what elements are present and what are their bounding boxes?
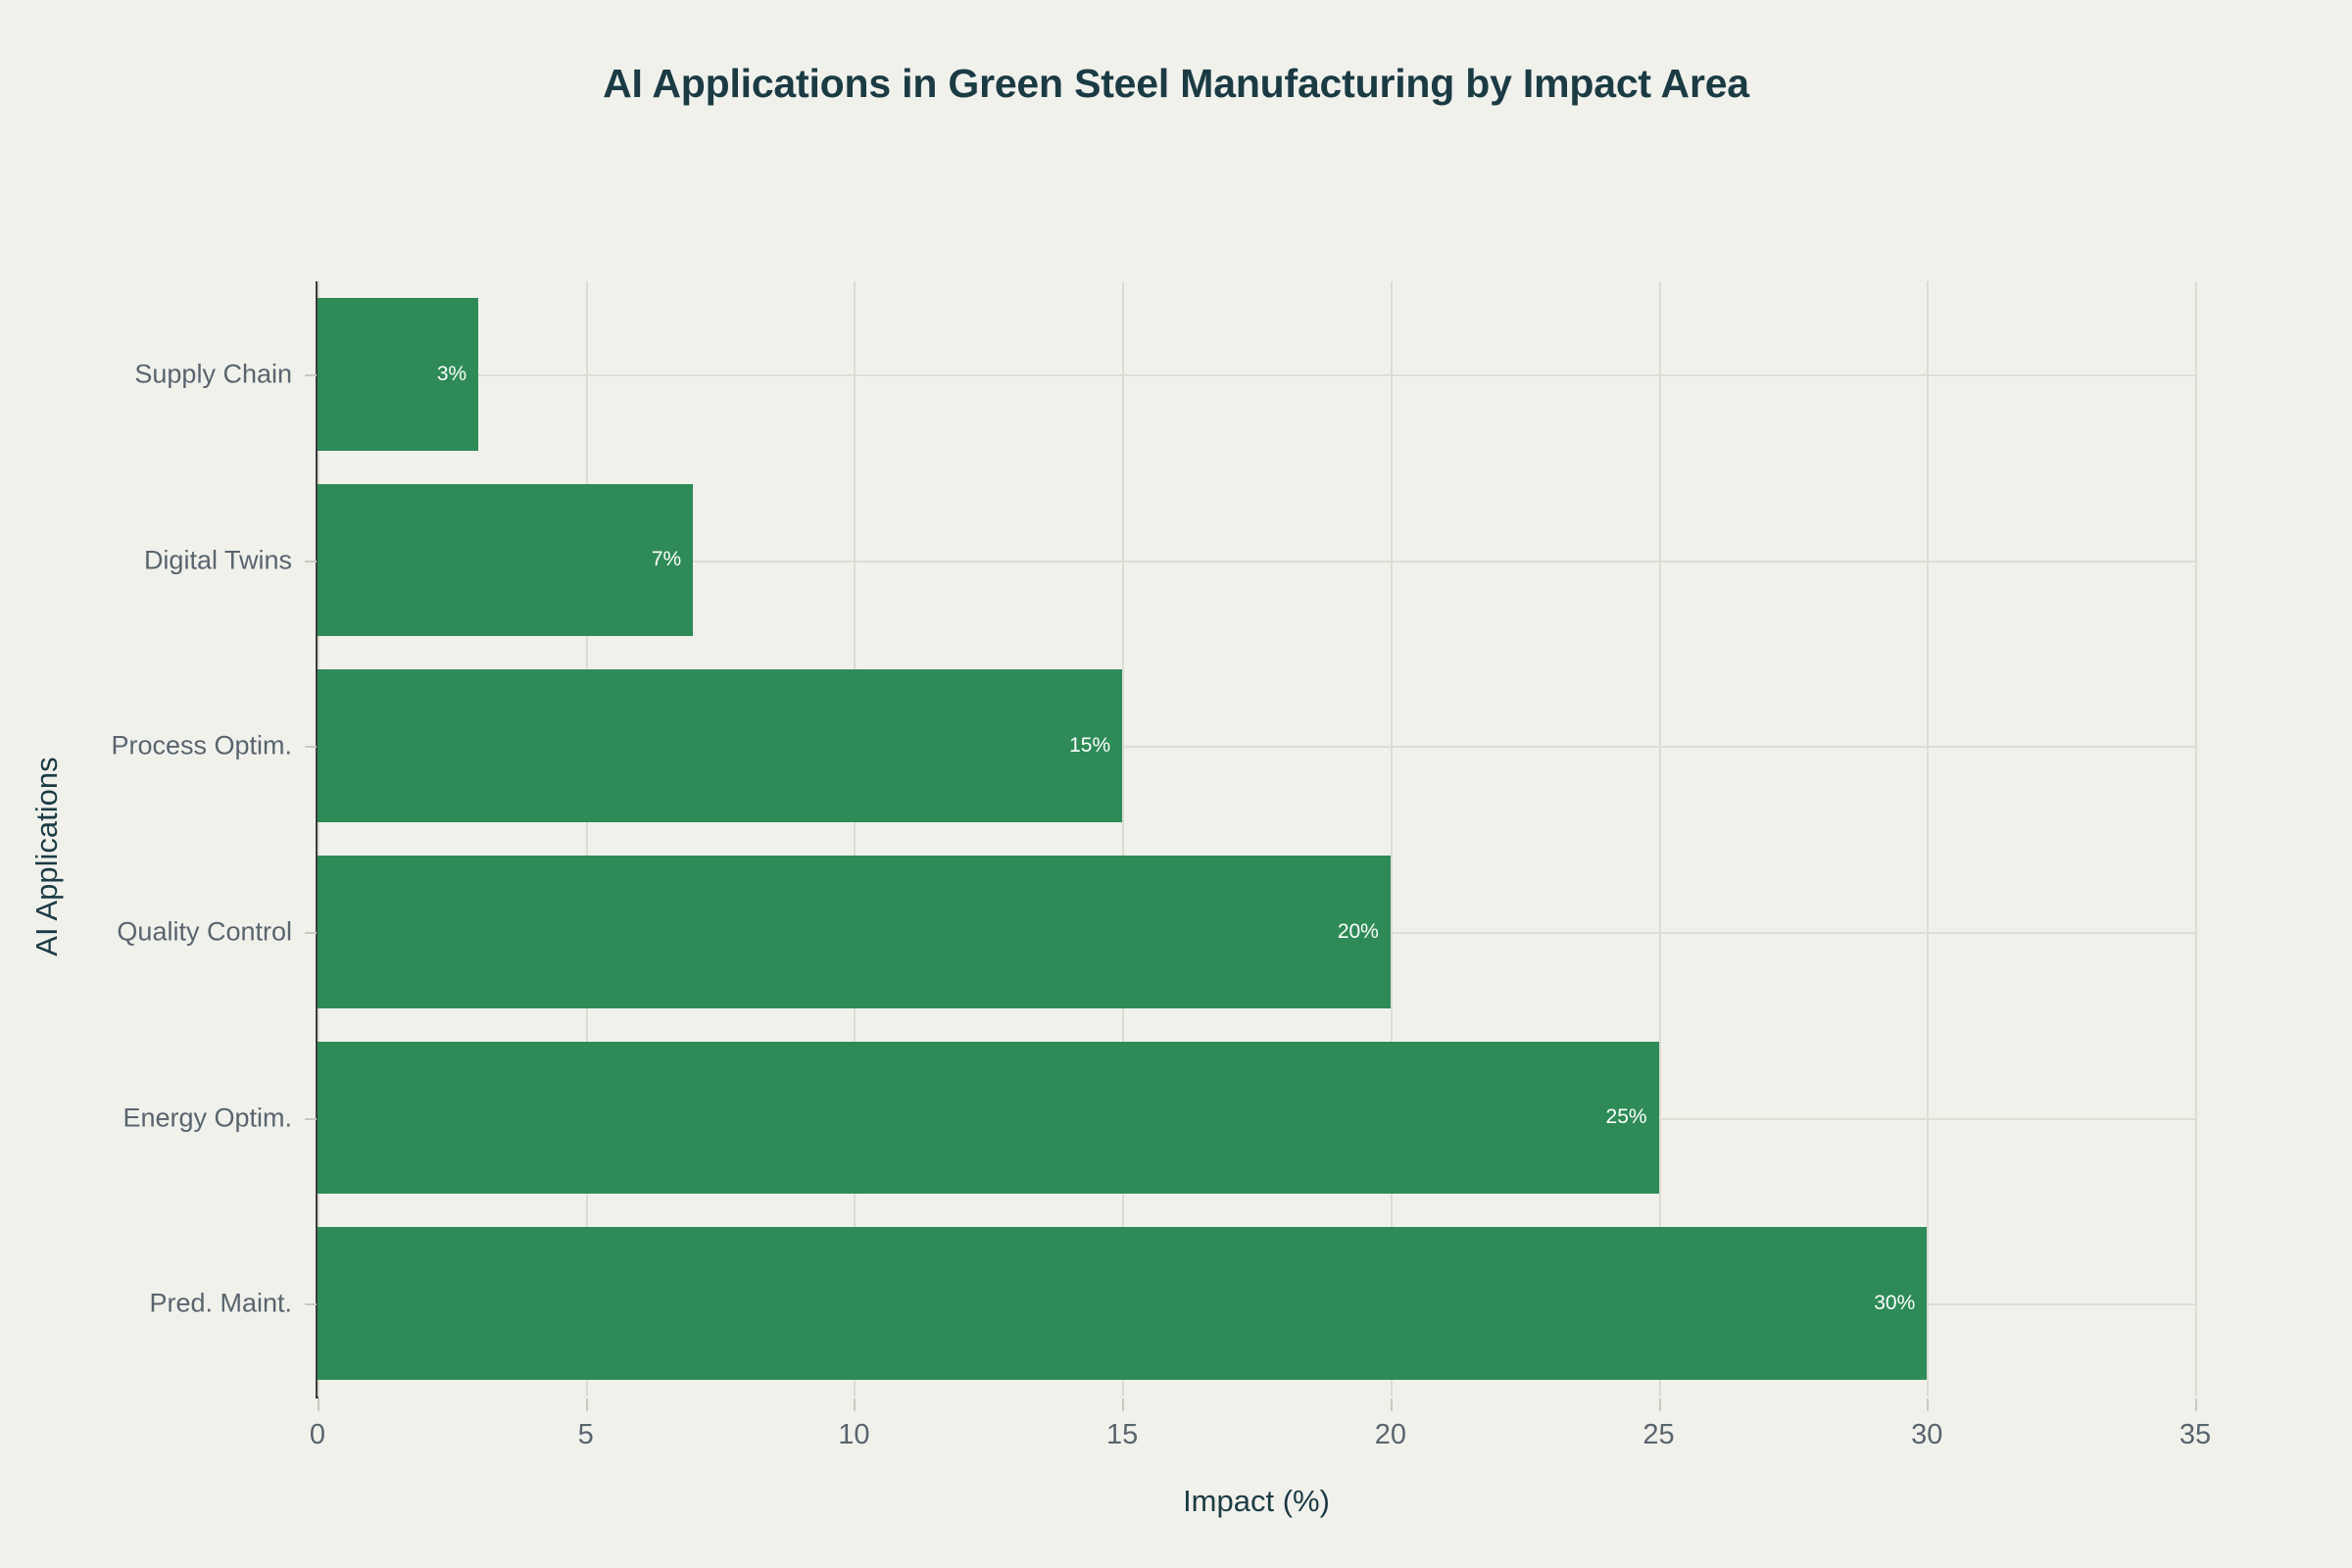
y-tick-label: Pred. Maint. [0,1289,292,1319]
bar[interactable]: 20% [318,856,1391,1008]
chart-title: AI Applications in Green Steel Manufactu… [0,61,2352,107]
x-tick-label: 25 [1642,1419,1674,1451]
y-tick-mark [305,746,317,748]
x-tick-label: 35 [2180,1419,2211,1451]
bar-value-label: 30% [1874,1292,1915,1315]
x-tick-mark [1391,1398,1393,1411]
x-tick-label: 15 [1106,1419,1138,1451]
y-tick-mark [305,374,317,376]
bar-value-label: 20% [1338,920,1379,944]
x-tick-mark [854,1398,856,1411]
bar-value-label: 25% [1606,1105,1647,1129]
bar-value-label: 7% [652,548,681,571]
y-tick-mark [305,1303,317,1305]
chart-figure: AI Applications in Green Steel Manufactu… [0,0,2352,1568]
x-tick-mark [2195,1398,2197,1411]
x-axis-title: Impact (%) [318,1484,2195,1519]
bar[interactable]: 25% [318,1042,1659,1195]
y-tick-label: Supply Chain [0,359,292,389]
x-tick-mark [1122,1398,1124,1411]
x-tick-mark [1659,1398,1661,1411]
x-tick-label: 5 [578,1419,594,1451]
x-tick-label: 30 [1911,1419,1942,1451]
x-tick-mark [586,1398,588,1411]
bar[interactable]: 7% [318,484,693,637]
y-tick-mark [305,561,317,563]
x-tick-label: 0 [310,1419,325,1451]
x-tick-mark [318,1398,319,1411]
y-axis-title: AI Applications [29,563,65,1151]
x-tick-label: 20 [1375,1419,1406,1451]
bar[interactable]: 15% [318,669,1122,822]
gridline-vertical [1927,281,1929,1396]
y-tick-mark [305,932,317,934]
gridline-horizontal [318,374,2195,376]
bar-value-label: 15% [1069,734,1110,758]
x-tick-label: 10 [838,1419,869,1451]
bar-value-label: 3% [437,363,466,386]
bar[interactable]: 30% [318,1227,1927,1380]
x-tick-mark [1927,1398,1929,1411]
y-tick-mark [305,1118,317,1120]
gridline-vertical [2195,281,2197,1396]
plot-area: 3%7%15%20%25%30% [318,281,2195,1396]
bar[interactable]: 3% [318,298,478,451]
